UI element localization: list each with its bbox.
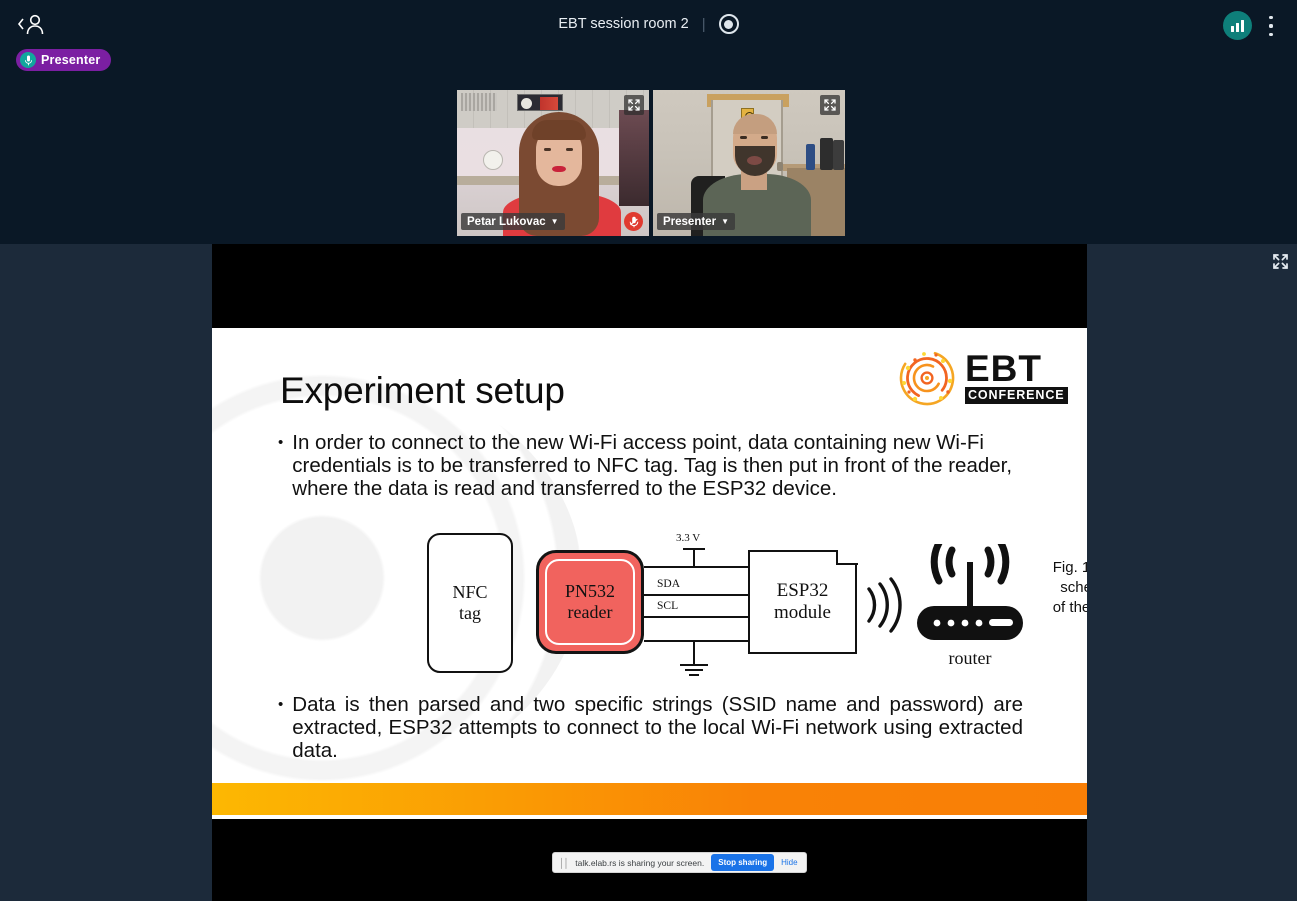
drag-handle-icon[interactable]: ││ (559, 858, 568, 868)
slide-title: Experiment setup (280, 370, 565, 412)
session-title-group: EBT session room 2 | (0, 14, 1297, 34)
kebab-menu-icon[interactable] (1264, 14, 1278, 38)
bullet-text: In order to connect to the new Wi-Fi acc… (292, 432, 1023, 501)
figure-caption-line3: of the setup. (1029, 598, 1087, 618)
top-bar: Presenter EBT session room 2 | (0, 0, 1297, 244)
slide-bullet-1: • In order to connect to the new Wi-Fi a… (278, 432, 1023, 501)
expand-icon[interactable] (820, 95, 840, 115)
chevron-down-icon[interactable]: ▼ (551, 217, 559, 226)
wire-gnd (644, 640, 748, 642)
participant-name: Petar Lukovac (467, 216, 546, 228)
chevron-down-icon[interactable]: ▼ (721, 217, 729, 226)
figure-caption: Fig. 1. Block schematic of the setup. (1029, 558, 1087, 617)
mic-muted-icon (624, 212, 643, 231)
wire-scl (644, 616, 748, 618)
wire-3v3-cap (683, 548, 705, 550)
microphone-icon (20, 52, 36, 68)
router-label: router (915, 648, 1025, 669)
ebt-conference-logo: EBT CONFERENCE (895, 346, 1069, 410)
ground-symbol-icon-3 (689, 674, 699, 676)
ground-symbol-icon-2 (685, 669, 703, 671)
hide-button[interactable]: Hide (781, 858, 800, 867)
diagram-pn532-reader: PN532 reader (536, 550, 644, 654)
video-tile-strip: Petar Lukovac ▼ (457, 90, 845, 236)
participant-name: Presenter (663, 216, 716, 228)
pin-label-scl: SCL (657, 600, 678, 612)
nfc-tag-line1: NFC (452, 582, 487, 603)
reader-line2: reader (565, 602, 615, 623)
presenter-badge-label: Presenter (41, 53, 100, 67)
esp32-line1: ESP32 (774, 580, 831, 602)
wire-sda (644, 594, 748, 596)
recording-indicator-icon[interactable] (719, 14, 739, 34)
bullet-text: Data is then parsed and two specific str… (292, 694, 1023, 763)
wire-3v3-stub (693, 550, 695, 568)
logo-sub-text: CONFERENCE (965, 387, 1068, 404)
wifi-waves-icon (861, 576, 909, 634)
ground-symbol-icon-1 (680, 664, 708, 666)
share-message: talk.elab.rs is sharing your screen. (575, 858, 704, 868)
wire-3v3 (644, 566, 748, 568)
logo-brand-text: EBT (965, 352, 1068, 386)
slide-accent-bar (212, 783, 1087, 815)
diagram-esp32-module: ESP32 module (748, 550, 857, 654)
reader-line1: PN532 (565, 581, 615, 602)
ebt-swirl-logo-icon (895, 348, 959, 408)
participant-name-chip[interactable]: Petar Lukovac ▼ (461, 213, 565, 230)
participant-name-chip[interactable]: Presenter ▼ (657, 213, 735, 230)
presenter-badge[interactable]: Presenter (16, 49, 111, 71)
slide-bullet-2: • Data is then parsed and two specific s… (278, 694, 1023, 763)
signal-bars-icon[interactable] (1223, 11, 1252, 40)
fullscreen-expand-icon[interactable] (1267, 248, 1293, 274)
presentation-slide: Experiment setup (212, 328, 1087, 819)
meeting-screen: Presenter EBT session room 2 | (0, 0, 1297, 901)
session-title: EBT session room 2 (558, 16, 688, 32)
pin-label-3v3: 3.3 V (676, 532, 700, 544)
nfc-tag-line2: tag (459, 603, 481, 624)
video-tile-presenter[interactable]: Presenter ▼ (653, 90, 845, 236)
video-tile-petar-lukovac[interactable]: Petar Lukovac ▼ (457, 90, 649, 236)
screen-share-notification[interactable]: ││ talk.elab.rs is sharing your screen. … (552, 852, 807, 873)
diagram-nfc-tag: NFC tag (427, 533, 513, 673)
figure-caption-line1: Fig. 1. Block (1029, 558, 1087, 578)
figure-caption-line2: schematic (1029, 578, 1087, 598)
bullet-marker: • (278, 694, 283, 763)
wire-gnd-stub (693, 641, 695, 665)
pin-label-sda: SDA (657, 578, 680, 590)
expand-icon[interactable] (624, 95, 644, 115)
bullet-marker: • (278, 432, 283, 501)
block-schematic-diagram: NFC tag PN532 reader 3.3 V (417, 528, 1077, 680)
esp32-line2: module (774, 602, 831, 624)
stop-sharing-button[interactable]: Stop sharing (711, 854, 774, 871)
router-icon (915, 544, 1025, 654)
title-separator: | (702, 16, 706, 33)
